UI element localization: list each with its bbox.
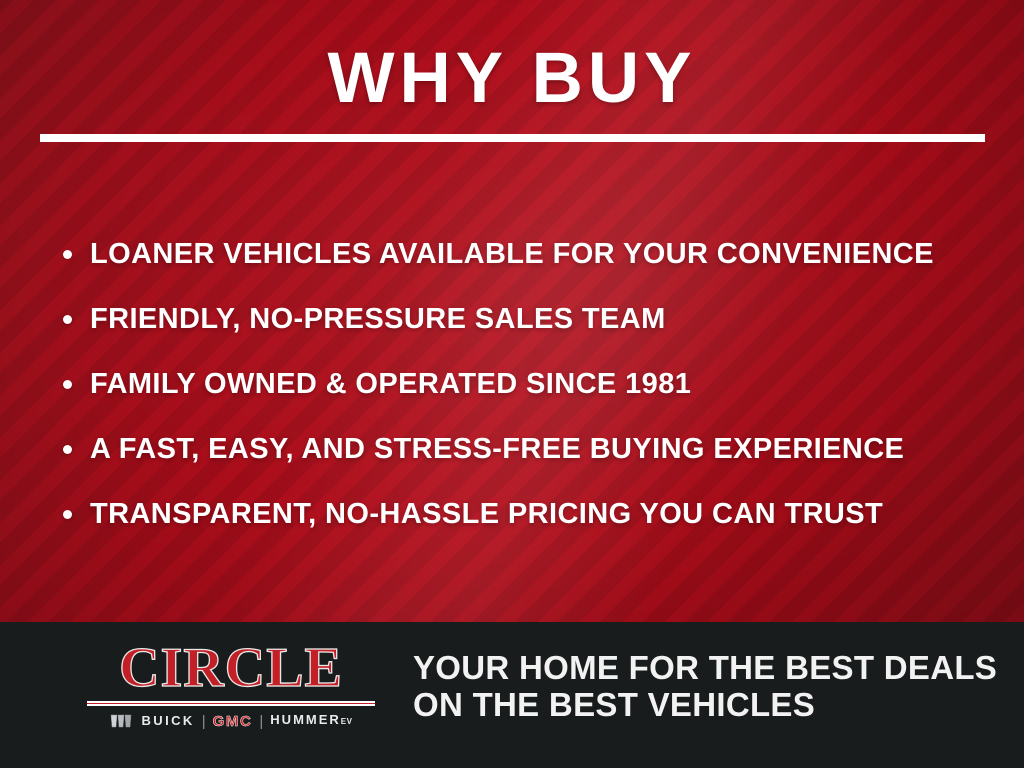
brand-label-buick: BUICK bbox=[142, 714, 195, 728]
title-underline-rule bbox=[40, 134, 985, 142]
brand-label-hummer-ev: EV bbox=[341, 717, 353, 726]
slide-canvas: WHY BUY LOANER VEHICLES AVAILABLE FOR YO… bbox=[0, 0, 1024, 768]
list-item-label: FRIENDLY, NO-PRESSURE SALES TEAM bbox=[90, 304, 666, 335]
list-item: FAMILY OWNED & OPERATED SINCE 1981 bbox=[63, 352, 993, 417]
benefits-list: LOANER VEHICLES AVAILABLE FOR YOUR CONVE… bbox=[63, 222, 993, 547]
brand-label-hummer-text: HUMMER bbox=[270, 712, 341, 727]
list-item: TRANSPARENT, NO-HASSLE PRICING YOU CAN T… bbox=[63, 482, 993, 547]
footer-bar: CIRCLE BUICK | GMC | HUMMEREV bbox=[0, 622, 1024, 768]
list-item-label: A FAST, EASY, AND STRESS-FREE BUYING EXP… bbox=[90, 434, 904, 465]
dealer-logo-wordmark: CIRCLE bbox=[86, 640, 376, 696]
bullet-dot-icon bbox=[63, 315, 72, 324]
bullet-dot-icon bbox=[63, 445, 72, 454]
list-item-label: LOANER VEHICLES AVAILABLE FOR YOUR CONVE… bbox=[90, 239, 934, 270]
list-item: A FAST, EASY, AND STRESS-FREE BUYING EXP… bbox=[63, 417, 993, 482]
footer-tagline-line-1: YOUR HOME FOR THE BEST DEALS bbox=[413, 649, 993, 686]
bullet-dot-icon bbox=[63, 380, 72, 389]
footer-tagline: YOUR HOME FOR THE BEST DEALS ON THE BEST… bbox=[413, 649, 993, 723]
list-item-label: TRANSPARENT, NO-HASSLE PRICING YOU CAN T… bbox=[90, 499, 883, 530]
footer-tagline-line-2: ON THE BEST VEHICLES bbox=[413, 686, 993, 723]
buick-tri-shield-icon bbox=[110, 714, 132, 728]
page-title: WHY BUY bbox=[0, 42, 1024, 116]
bullet-dot-icon bbox=[63, 510, 72, 519]
brand-strip: BUICK | GMC | HUMMEREV bbox=[86, 713, 376, 729]
dealer-logo[interactable]: CIRCLE BUICK | GMC | HUMMEREV bbox=[86, 640, 376, 729]
list-item: FRIENDLY, NO-PRESSURE SALES TEAM bbox=[63, 287, 993, 352]
bullet-dot-icon bbox=[63, 250, 72, 259]
brand-separator: | bbox=[259, 714, 263, 729]
logo-divider-rule bbox=[87, 701, 375, 706]
brand-label-hummer: HUMMEREV bbox=[270, 713, 352, 729]
brand-separator: | bbox=[202, 714, 206, 729]
brand-label-gmc: GMC bbox=[213, 714, 253, 729]
list-item-label: FAMILY OWNED & OPERATED SINCE 1981 bbox=[90, 369, 691, 400]
list-item: LOANER VEHICLES AVAILABLE FOR YOUR CONVE… bbox=[63, 222, 993, 287]
